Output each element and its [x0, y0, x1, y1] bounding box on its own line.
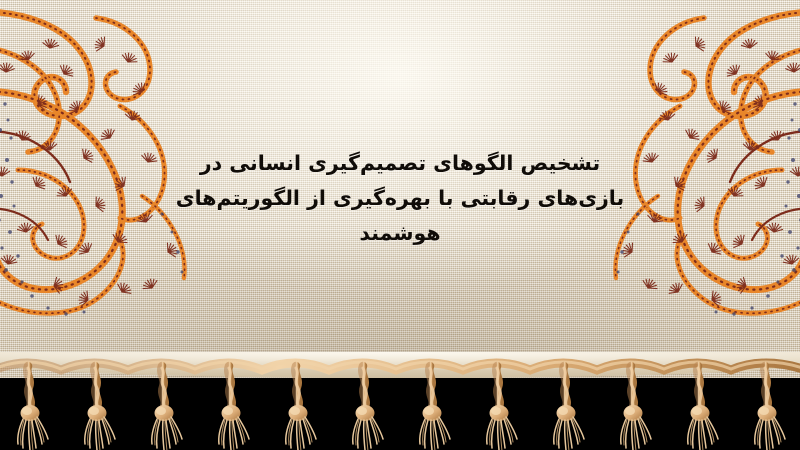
- title-line-2: بازی‌های رقابتی با بهره‌گیری از الگوریتم…: [0, 181, 800, 216]
- tassel-fringe-icon: [0, 336, 800, 450]
- slide-title: تشخیص الگوهای تصمیم‌گیری انسانی در بازی‌…: [0, 146, 800, 251]
- title-line-1: تشخیص الگوهای تصمیم‌گیری انسانی در: [0, 146, 800, 181]
- title-line-3: هوشمند: [0, 216, 800, 251]
- tassel-fringe: [0, 336, 800, 450]
- slide-canvas: تشخیص الگوهای تصمیم‌گیری انسانی در بازی‌…: [0, 0, 800, 450]
